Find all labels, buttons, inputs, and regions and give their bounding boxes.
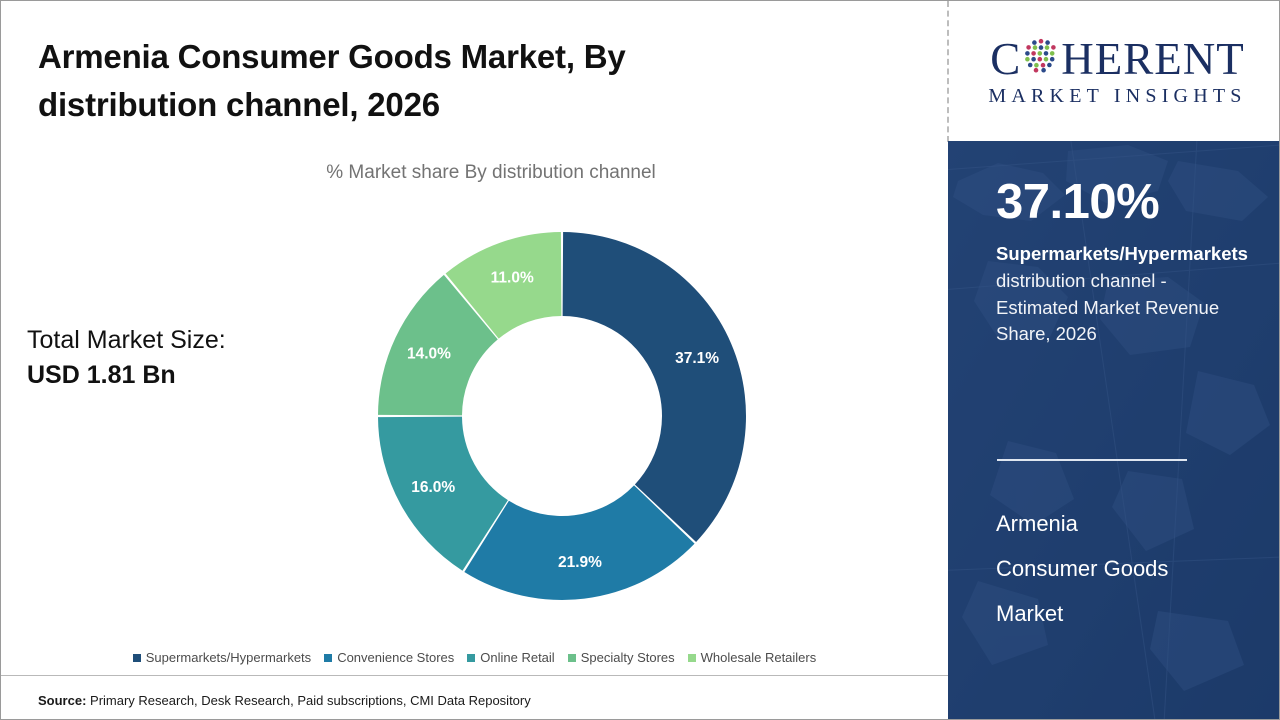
donut-slice-label: 21.9%: [558, 554, 602, 571]
source-label: Source:: [38, 693, 86, 708]
company-logo: C: [954, 1, 1280, 141]
chart-content-area: Armenia Consumer Goods Market, By distri…: [1, 1, 948, 719]
source-text: Primary Research, Desk Research, Paid su…: [90, 693, 531, 708]
total-market-value: USD 1.81 Bn: [27, 361, 176, 389]
legend-swatch-icon: [688, 654, 696, 662]
legend-item[interactable]: Specialty Stores: [568, 650, 675, 665]
donut-chart: 37.1%21.9%16.0%14.0%11.0%: [377, 229, 747, 603]
legend-label: Supermarkets/Hypermarkets: [146, 650, 311, 665]
donut-slice-label: 16.0%: [411, 479, 455, 496]
panel-market-name: ArmeniaConsumer GoodsMarket: [996, 501, 1246, 636]
donut-slice-label: 11.0%: [491, 270, 534, 287]
stat-description-rest: distribution channel - Estimated Market …: [996, 270, 1219, 345]
donut-slice-label: 14.0%: [407, 345, 451, 362]
legend-label: Wholesale Retailers: [701, 650, 817, 665]
highlight-panel: 37.10% Supermarkets/Hypermarkets distrib…: [948, 141, 1280, 720]
panel-content: 37.10% Supermarkets/Hypermarkets distrib…: [996, 141, 1256, 720]
donut-chart-svg: 37.1%21.9%16.0%14.0%11.0%: [377, 229, 747, 603]
source-note: Source: Primary Research, Desk Research,…: [38, 693, 531, 708]
vertical-dashed-divider: [947, 1, 949, 142]
legend-item[interactable]: Wholesale Retailers: [688, 650, 817, 665]
legend-item[interactable]: Convenience Stores: [324, 650, 454, 665]
panel-divider: [997, 459, 1187, 461]
logo-tagline: MARKET INSIGHTS: [988, 86, 1246, 106]
stat-value: 37.10%: [996, 178, 1159, 227]
panel-market-name-line: Armenia: [996, 501, 1246, 546]
legend-swatch-icon: [467, 654, 475, 662]
page-title: Armenia Consumer Goods Market, By distri…: [38, 33, 738, 129]
legend-swatch-icon: [568, 654, 576, 662]
donut-slices: [378, 232, 746, 600]
logo-word-herent: HERENT: [1061, 37, 1244, 82]
logo-letter-c: C: [990, 37, 1021, 82]
total-market-size: Total Market Size: USD 1.81 Bn: [27, 323, 327, 392]
legend-label: Online Retail: [480, 650, 554, 665]
dotted-globe-icon: [1022, 36, 1060, 82]
infographic-page: Armenia Consumer Goods Market, By distri…: [0, 0, 1280, 720]
logo-wordmark: C: [990, 36, 1245, 82]
stat-description-highlight: Supermarkets/Hypermarkets: [996, 243, 1248, 264]
legend-swatch-icon: [324, 654, 332, 662]
panel-market-name-line: Market: [996, 591, 1246, 636]
legend-label: Specialty Stores: [581, 650, 675, 665]
donut-slice[interactable]: [563, 232, 746, 542]
stat-description: Supermarkets/Hypermarkets distribution c…: [996, 241, 1249, 348]
legend-item[interactable]: Supermarkets/Hypermarkets: [133, 650, 311, 665]
chart-subtitle: % Market share By distribution channel: [151, 162, 831, 184]
donut-slice-label: 37.1%: [675, 350, 719, 367]
legend-swatch-icon: [133, 654, 141, 662]
chart-legend: Supermarkets/HypermarketsConvenience Sto…: [1, 650, 948, 665]
legend-item[interactable]: Online Retail: [467, 650, 554, 665]
total-market-label: Total Market Size:: [27, 326, 226, 354]
legend-label: Convenience Stores: [337, 650, 454, 665]
source-divider: [1, 675, 948, 676]
panel-market-name-line: Consumer Goods: [996, 546, 1246, 591]
